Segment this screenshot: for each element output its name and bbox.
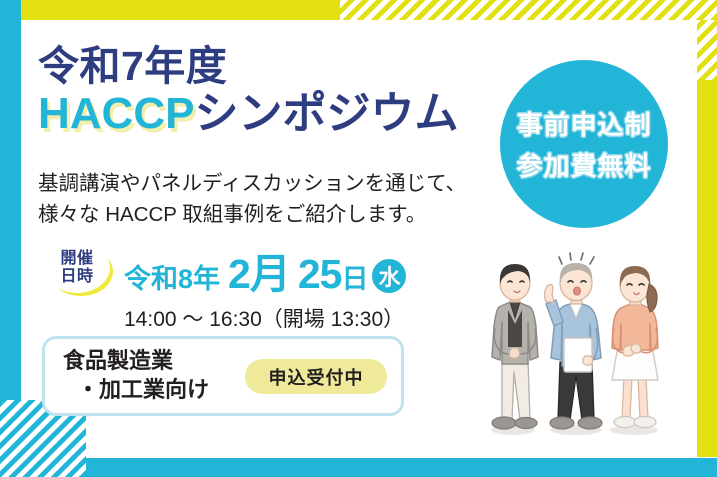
datetime-pill-line-2: 日時	[60, 268, 93, 285]
datetime-label-pill: 開催 日時	[44, 242, 110, 293]
headline-fiscal-year: 令和7年度	[38, 44, 508, 88]
event-day-of-week-badge: 水	[372, 259, 406, 293]
headline-title: HACCPシンポジウム	[38, 90, 508, 138]
application-status-chip: 申込受付中	[245, 359, 387, 394]
event-time-line: 14:00 〜 16:30（開場 13:30）	[124, 303, 406, 333]
three-people-discussion-illustration	[466, 252, 691, 442]
registration-circle-badge: 事前申込制 参加費無料	[500, 60, 668, 228]
event-date-line: 令和8年 2月 25 日 水	[124, 240, 406, 300]
decor-right-yellow-bar	[697, 80, 717, 457]
event-date-day-unit: 日	[341, 257, 368, 296]
decor-left-cyan-bar	[0, 0, 21, 430]
decor-bottom-cyan-bar	[0, 458, 717, 477]
decor-top-yellow-bar	[21, 0, 341, 20]
datetime-label-pill-wrap: 開催 日時	[44, 242, 114, 296]
circle-badge-line-1: 事前申込制	[516, 105, 651, 142]
event-date-day: 25	[298, 251, 342, 298]
datetime-pill-line-1: 開催	[60, 250, 93, 267]
target-audience-line-2: ・加工業向け	[63, 376, 209, 405]
headline-block: 令和7年度 HACCPシンポジウム	[38, 44, 508, 139]
headline-haccp-word: HACCP	[38, 89, 194, 138]
description-block: 基調講演やパネルディスカッションを通じて、 様々な HACCP 取組事例をご紹介…	[38, 168, 508, 230]
target-audience-text: 食品製造業 ・加工業向け	[63, 347, 209, 404]
event-poster: 令和7年度 HACCPシンポジウム 基調講演やパネルディスカッションを通じて、 …	[0, 0, 717, 477]
description-line-2: 様々な HACCP 取組事例をご紹介します。	[38, 199, 508, 230]
event-date-era: 令和8年	[124, 257, 220, 296]
decor-top-yellow-stripes	[340, 0, 717, 20]
headline-symposium-word: シンポジウム	[194, 89, 458, 138]
event-datetime-row: 開催 日時 令和8年 2月 25 日 水 14:00 〜 16:30（開場 13…	[44, 240, 406, 333]
target-audience-line-1: 食品製造業	[63, 347, 209, 376]
event-date-month: 2月	[228, 240, 290, 300]
application-status-label: 申込受付中	[269, 364, 364, 390]
decor-right-yellow-stripes	[697, 20, 717, 82]
circle-badge-line-2: 参加費無料	[516, 146, 651, 183]
target-audience-box: 食品製造業 ・加工業向け 申込受付中	[42, 336, 404, 416]
datetime-text-column: 令和8年 2月 25 日 水 14:00 〜 16:30（開場 13:30）	[124, 240, 406, 333]
description-line-1: 基調講演やパネルディスカッションを通じて、	[38, 168, 508, 199]
